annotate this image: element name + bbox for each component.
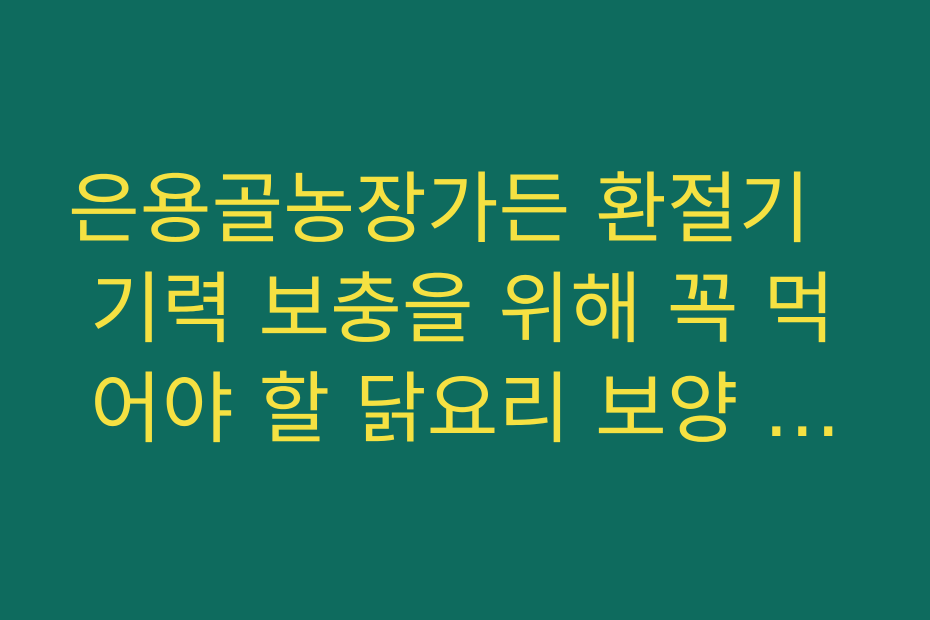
headline-line-1: 은용골농장가든 환절기 [68,160,810,260]
thumbnail-card: 은용골농장가든 환절기 기력 보충을 위해 꼭 먹 어야 할 닭요리 보양 … [0,0,930,620]
headline-text-block: 은용골농장가든 환절기 기력 보충을 위해 꼭 먹 어야 할 닭요리 보양 … [0,0,930,620]
headline-line-2: 기력 보충을 위해 꼭 먹 [68,260,835,360]
headline-line-3: 어야 할 닭요리 보양 … [68,360,841,460]
